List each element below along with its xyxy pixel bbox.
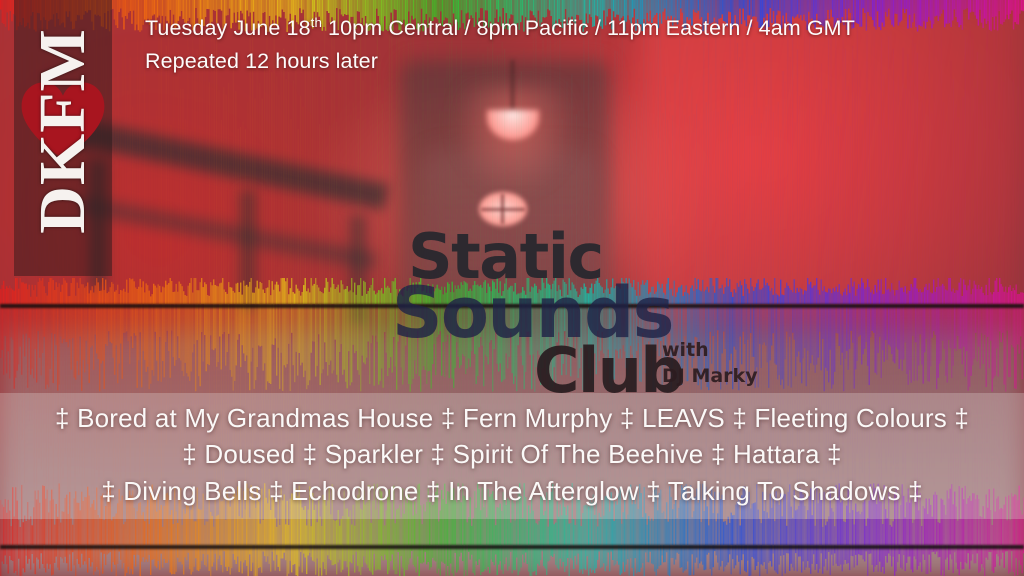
broadcast-date-prefix: Tuesday June 18 <box>145 16 311 40</box>
lineup-line-1: ‡ Bored at My Grandmas House ‡ Fern Murp… <box>0 400 1024 436</box>
photo-lamp-glow <box>452 85 576 195</box>
broadcast-times: Tuesday June 18th 10pm Central / 8pm Pac… <box>145 12 1005 79</box>
host-credit: with DJ Marky <box>662 338 758 389</box>
broadcast-time-line: Tuesday June 18th 10pm Central / 8pm Pac… <box>145 12 1005 45</box>
host-credit-name: DJ Marky <box>662 364 758 390</box>
dkfm-logo-text: DKFM <box>25 28 101 234</box>
waveform-center-line-bottom <box>0 545 1024 549</box>
poster-canvas: DKFM Tuesday June 18th 10pm Central / 8p… <box>0 0 1024 576</box>
dkfm-logo[interactable]: DKFM <box>14 0 112 276</box>
lineup-panel: ‡ Bored at My Grandmas House ‡ Fern Murp… <box>0 393 1024 519</box>
lineup-line-3: ‡ Diving Bells ‡ Echodrone ‡ In The Afte… <box>0 473 1024 509</box>
lineup-line-2: ‡ Doused ‡ Sparkler ‡ Spirit Of The Beeh… <box>0 436 1024 472</box>
waveform-center-line-middle <box>0 304 1024 308</box>
repeat-notice: Repeated 12 hours later <box>145 45 1005 78</box>
host-credit-prefix: with <box>662 338 758 364</box>
date-ordinal-suffix: th <box>311 15 322 30</box>
photo-window-mullion-vertical <box>501 194 504 224</box>
photo-railing-post-2 <box>240 190 256 310</box>
broadcast-timezones: 10pm Central / 8pm Pacific / 11pm Easter… <box>322 16 855 40</box>
photo-railing-post-3 <box>350 215 366 325</box>
